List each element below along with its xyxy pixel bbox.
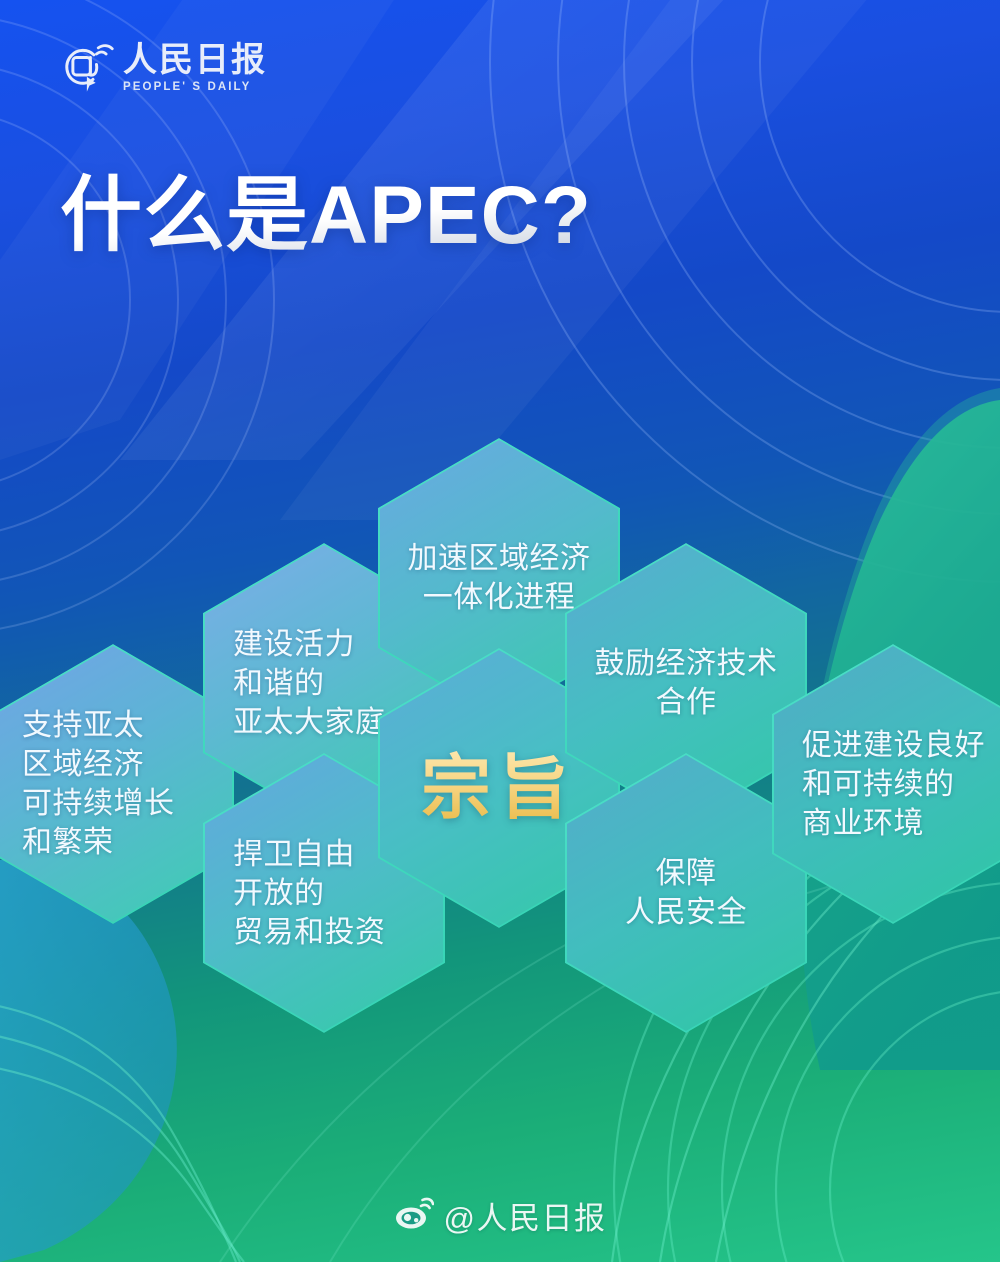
brand-name-cn: 人民日报 [123,43,267,79]
hexagon-label: 鼓励经济技术 合作 [567,644,805,722]
at-sign-broadcast-icon [58,40,114,96]
brand-name-en: PEOPLE' S DAILY [123,81,267,93]
hexagon-label: 促进建设良好 和可持续的 商业环境 [774,726,1000,843]
hexagon-fill: 支持亚太 区域经济 可持续增长 和繁荣 [0,646,232,922]
weibo-icon [394,1196,434,1235]
hexagon-label: 保障 人民安全 [567,854,805,932]
hexagon-label: 支持亚太 区域经济 可持续增长 和繁荣 [0,706,232,862]
footer-watermark: @人民日报 [0,1193,1000,1238]
page-title: 什么是APEC? [60,172,592,261]
footer-handle: @人民日报 [444,1193,607,1238]
hexagon-support-growth[interactable]: 支持亚太 区域经济 可持续增长 和繁荣 [0,644,234,924]
poster-canvas: 人民日报 PEOPLE' S DAILY 什么是APEC? 支持亚太 区域经济 … [0,0,1000,1262]
brand-logo: 人民日报 PEOPLE' S DAILY [58,40,267,96]
